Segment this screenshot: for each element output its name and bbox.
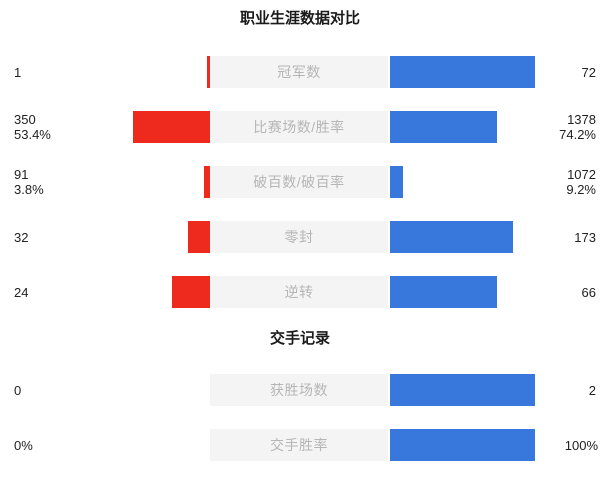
stat-row: 24 逆转 66 (0, 270, 600, 314)
right-value-group: 2 (538, 368, 596, 412)
left-value-group: 350 53.4% (14, 105, 124, 149)
right-value-group: 66 (538, 270, 596, 314)
left-primary-value: 91 (14, 167, 28, 182)
left-bar (188, 221, 210, 253)
left-value-group: 32 (14, 215, 124, 259)
left-primary-value: 1 (14, 65, 21, 80)
left-bar (133, 111, 210, 143)
stat-label: 零封 (285, 227, 314, 247)
right-primary-value: 100% (565, 438, 598, 453)
right-value-group: 173 (538, 215, 596, 259)
stat-label-band: 比赛场数/胜率 (210, 111, 388, 143)
right-bar (390, 56, 535, 88)
left-secondary-value: 3.8% (14, 182, 44, 197)
right-primary-value: 1072 (567, 167, 596, 182)
stat-row: 1 冠军数 72 (0, 50, 600, 94)
stat-label: 逆转 (285, 282, 314, 302)
stat-label: 冠军数 (277, 62, 321, 82)
left-secondary-value: 53.4% (14, 127, 51, 142)
left-primary-value: 32 (14, 230, 28, 245)
stat-row: 350 53.4% 比赛场数/胜率 1378 74.2% (0, 105, 600, 149)
h2h-section-title: 交手记录 (0, 331, 600, 346)
left-primary-value: 24 (14, 285, 28, 300)
right-bar (390, 166, 403, 198)
right-primary-value: 66 (582, 285, 596, 300)
right-primary-value: 173 (574, 230, 596, 245)
stat-row: 32 零封 173 (0, 215, 600, 259)
right-bar (390, 276, 497, 308)
right-value-group: 1378 74.2% (538, 105, 596, 149)
comparison-chart: 职业生涯数据对比 1 冠军数 72 350 53.4% 比赛场数/胜率 1378… (0, 0, 600, 480)
right-bar (390, 221, 513, 253)
stat-label: 交手胜率 (270, 435, 328, 455)
stat-label-band: 获胜场数 (210, 374, 388, 406)
stat-row: 91 3.8% 破百数/破百率 1072 9.2% (0, 160, 600, 204)
right-secondary-value: 9.2% (566, 182, 596, 197)
stat-label-band: 零封 (210, 221, 388, 253)
stat-label: 比赛场数/胜率 (253, 117, 344, 137)
stat-label-band: 冠军数 (210, 56, 388, 88)
right-bar (390, 374, 535, 406)
right-value-group: 72 (538, 50, 596, 94)
left-primary-value: 0 (14, 383, 21, 398)
left-value-group: 0 (14, 368, 124, 412)
right-secondary-value: 74.2% (559, 127, 596, 142)
right-value-group: 100% (534, 423, 598, 467)
stat-label: 破百数/破百率 (253, 172, 344, 192)
stat-label-band: 破百数/破百率 (210, 166, 388, 198)
right-bar (390, 429, 535, 461)
right-primary-value: 1378 (567, 112, 596, 127)
right-primary-value: 2 (589, 383, 596, 398)
stat-label-band: 逆转 (210, 276, 388, 308)
left-value-group: 1 (14, 50, 124, 94)
left-value-group: 24 (14, 270, 124, 314)
stat-row: 0 获胜场数 2 (0, 368, 600, 412)
right-primary-value: 72 (582, 65, 596, 80)
left-value-group: 0% (14, 423, 124, 467)
left-primary-value: 0% (14, 438, 33, 453)
left-value-group: 91 3.8% (14, 160, 124, 204)
stat-label: 获胜场数 (270, 380, 328, 400)
stat-label-band: 交手胜率 (210, 429, 388, 461)
stat-row: 0% 交手胜率 100% (0, 423, 600, 467)
left-primary-value: 350 (14, 112, 36, 127)
right-value-group: 1072 9.2% (538, 160, 596, 204)
right-bar (390, 111, 497, 143)
career-section-title: 职业生涯数据对比 (0, 11, 600, 26)
left-bar (172, 276, 210, 308)
